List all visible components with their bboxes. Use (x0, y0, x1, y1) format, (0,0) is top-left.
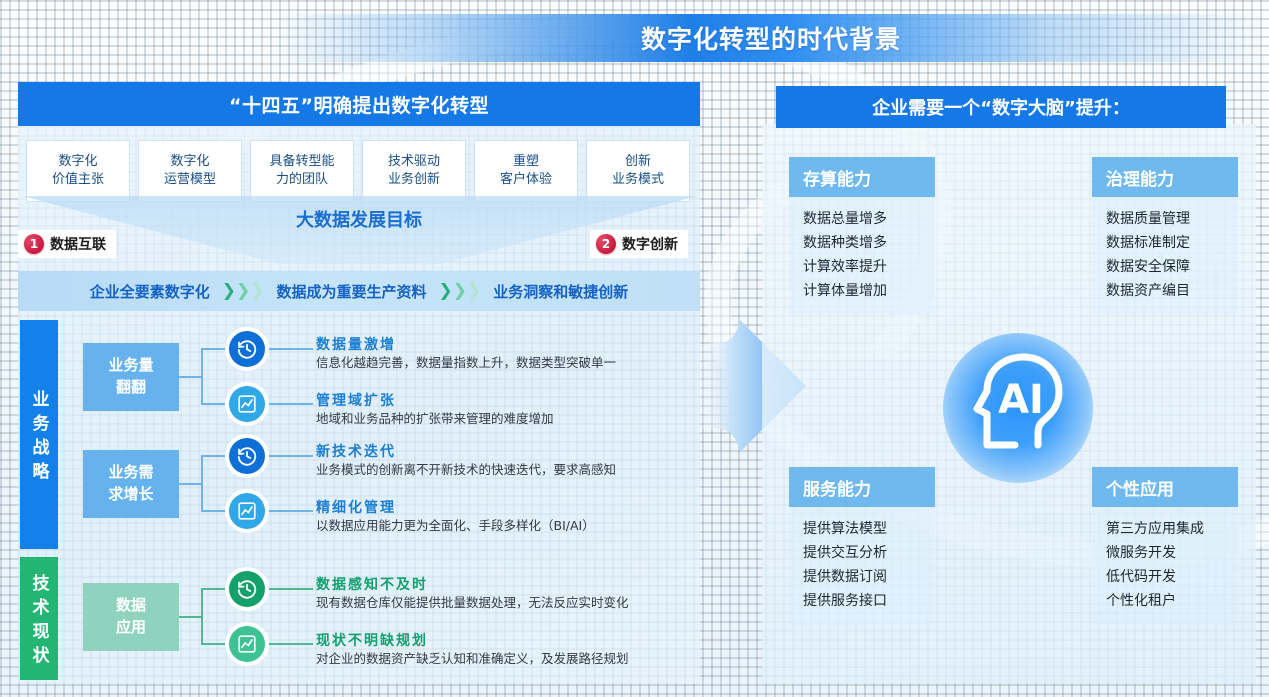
item-title: 数据量激增 (316, 334, 396, 354)
capability-card-header: 存算能力 (789, 157, 935, 197)
capability-item: 低代码开发 (1106, 565, 1238, 589)
capability-item: 提供服务接口 (803, 589, 935, 613)
connector (201, 510, 231, 512)
right-panel-header-text: 企业需要一个“数字大脑”提升： (872, 94, 1130, 120)
policy-box-row: 数字化 价值主张 数字化 运营模型 具备转型能 力的团队 技术驱动 业务创新 重… (26, 140, 694, 202)
goal-badge-label: 数字创新 (622, 234, 678, 254)
item-title: 现状不明缺规划 (316, 630, 428, 650)
line-chart-icon (229, 626, 265, 662)
capability-item: 提供交互分析 (803, 541, 935, 565)
goal-badge-number: 2 (596, 234, 616, 254)
tree-node-line2: 应用 (116, 617, 146, 639)
item-title: 精细化管理 (316, 497, 396, 517)
connector (179, 376, 201, 378)
item-desc: 信息化越趋完善，数据量指数上升，数据类型突破单一 (316, 354, 706, 373)
policy-box-line1: 数字化 (170, 153, 209, 171)
right-panel-header: 企业需要一个“数字大脑”提升： (776, 86, 1226, 128)
policy-box-line2: 业务模式 (612, 171, 664, 189)
sidebar-label-business-strategy: 业务战略 (20, 320, 58, 549)
capability-card-title: 个性应用 (1106, 475, 1174, 500)
connector (179, 616, 201, 618)
clock-history-icon (229, 331, 265, 367)
capability-card-header: 个性应用 (1092, 467, 1238, 507)
tree-node-business-demand: 业务需 求增长 (83, 450, 179, 518)
policy-box: 数字化 运营模型 (138, 140, 242, 202)
chevron-right-icon: ❯❯❯ (222, 283, 265, 300)
left-panel-header: “十四五”明确提出数字化转型 (18, 82, 700, 126)
item-desc: 业务模式的创新离不开新技术的快速迭代，要求高感知 (316, 461, 706, 480)
capability-card-title: 存算能力 (803, 165, 871, 190)
policy-box: 数字化 价值主张 (26, 140, 130, 202)
item-desc: 现有数据仓库仅能提供批量数据处理，无法反应实时变化 (316, 594, 706, 613)
page-title: 数字化转型的时代背景 (272, 14, 1269, 62)
connector (265, 348, 313, 350)
policy-box: 具备转型能 力的团队 (250, 140, 354, 202)
connector (265, 643, 313, 645)
ai-label: AI (998, 377, 1044, 423)
clock-history-icon (229, 438, 265, 474)
goal-badge-1: 1 数据互联 (18, 230, 116, 258)
item-desc: 地域和业务品种的扩张带来管理的难度增加 (316, 410, 706, 429)
capability-card-governance: 治理能力 数据质量管理 数据标准制定 数据安全保障 数据资产编目 (1092, 157, 1238, 315)
connector (201, 455, 203, 512)
left-panel-header-text: “十四五”明确提出数字化转型 (229, 91, 489, 118)
capability-item: 第三方应用集成 (1106, 517, 1238, 541)
capability-item: 提供算法模型 (803, 517, 935, 541)
capability-item: 提供数据订阅 (803, 565, 935, 589)
capability-card-body: 数据质量管理 数据标准制定 数据安全保障 数据资产编目 (1092, 197, 1238, 315)
capability-item: 数据种类增多 (803, 231, 935, 255)
policy-box-line1: 创新 (625, 153, 651, 171)
capability-card-title: 治理能力 (1106, 165, 1174, 190)
connector (201, 643, 231, 645)
capability-item: 数据质量管理 (1106, 207, 1238, 231)
capability-card-title: 服务能力 (803, 475, 871, 500)
policy-box-line2: 客户体验 (500, 171, 552, 189)
capability-card-header: 服务能力 (789, 467, 935, 507)
capability-item: 计算体量增加 (803, 279, 935, 303)
capability-card-storage: 存算能力 数据总量增多 数据种类增多 计算效率提升 计算体量增加 (789, 157, 935, 315)
capability-item: 数据资产编目 (1106, 279, 1238, 303)
value-chain-item-3: 业务洞察和敏捷创新 (493, 281, 628, 302)
connector (179, 483, 201, 485)
policy-box-line2: 价值主张 (52, 171, 104, 189)
item-desc: 以数据应用能力更为全面化、手段多样化（BI/AI） (316, 517, 706, 536)
capability-card-application: 个性应用 第三方应用集成 微服务开发 低代码开发 个性化租户 (1092, 467, 1238, 625)
value-chain-item-2: 数据成为重要生产资料 (276, 281, 426, 302)
item-desc: 对企业的数据资产缺乏认知和准确定义，及发展路径规划 (316, 650, 706, 669)
goal-badge-label: 数据互联 (50, 234, 106, 254)
tree-node-line1: 数据 (116, 595, 146, 617)
chevron-right-icon: ❯❯❯ (439, 283, 482, 300)
page-title-text: 数字化转型的时代背景 (641, 20, 901, 56)
tree-node-line2: 翻翻 (116, 377, 146, 399)
item-title: 数据感知不及时 (316, 574, 428, 594)
capability-card-body: 提供算法模型 提供交互分析 提供数据订阅 提供服务接口 (789, 507, 935, 625)
ai-head-icon: AI (943, 333, 1093, 483)
policy-box-line2: 力的团队 (276, 171, 328, 189)
value-chain-strip: 企业全要素数字化 ❯❯❯ 数据成为重要生产资料 ❯❯❯ 业务洞察和敏捷创新 (18, 271, 700, 311)
connector (265, 510, 313, 512)
item-title: 管理域扩张 (316, 390, 396, 410)
connector (201, 403, 231, 405)
policy-box-line2: 运营模型 (164, 171, 216, 189)
tree-node-line1: 业务需 (108, 462, 153, 484)
capability-card-body: 数据总量增多 数据种类增多 计算效率提升 计算体量增加 (789, 197, 935, 315)
connector (201, 588, 231, 590)
connector (265, 588, 313, 590)
connector (201, 455, 231, 457)
capability-item: 数据标准制定 (1106, 231, 1238, 255)
connector (265, 403, 313, 405)
capability-card-body: 第三方应用集成 微服务开发 低代码开发 个性化租户 (1092, 507, 1238, 625)
connector (201, 348, 203, 405)
policy-box-line1: 技术驱动 (388, 153, 440, 171)
clock-history-icon (229, 571, 265, 607)
connector (201, 348, 231, 350)
policy-box: 重塑 客户体验 (474, 140, 578, 202)
tree-node-line1: 业务量 (108, 355, 153, 377)
tree-node-line2: 求增长 (108, 484, 153, 506)
capability-card-service: 服务能力 提供算法模型 提供交互分析 提供数据订阅 提供服务接口 (789, 467, 935, 625)
funnel-label: 大数据发展目标 (0, 206, 718, 232)
connector (265, 455, 313, 457)
value-chain-item-1: 企业全要素数字化 (90, 281, 210, 302)
policy-box: 创新 业务模式 (586, 140, 690, 202)
goal-badge-number: 1 (24, 234, 44, 254)
policy-box: 技术驱动 业务创新 (362, 140, 466, 202)
sidebar-label-tech-status: 技术现状 (20, 557, 58, 680)
line-chart-icon (229, 493, 265, 529)
tree-node-business-volume: 业务量 翻翻 (83, 343, 179, 411)
capability-item: 计算效率提升 (803, 255, 935, 279)
goal-badge-2: 2 数字创新 (590, 230, 688, 258)
line-chart-icon (229, 386, 265, 422)
item-title: 新技术迭代 (316, 441, 396, 461)
capability-card-header: 治理能力 (1092, 157, 1238, 197)
capability-item: 微服务开发 (1106, 541, 1238, 565)
capability-item: 数据总量增多 (803, 207, 935, 231)
connector (201, 588, 203, 645)
policy-box-line1: 数字化 (58, 153, 97, 171)
capability-item: 数据安全保障 (1106, 255, 1238, 279)
policy-box-line1: 重塑 (513, 153, 539, 171)
tree-node-data-application: 数据 应用 (83, 583, 179, 651)
policy-box-line2: 业务创新 (388, 171, 440, 189)
capability-item: 个性化租户 (1106, 589, 1238, 613)
policy-box-line1: 具备转型能 (269, 153, 334, 171)
